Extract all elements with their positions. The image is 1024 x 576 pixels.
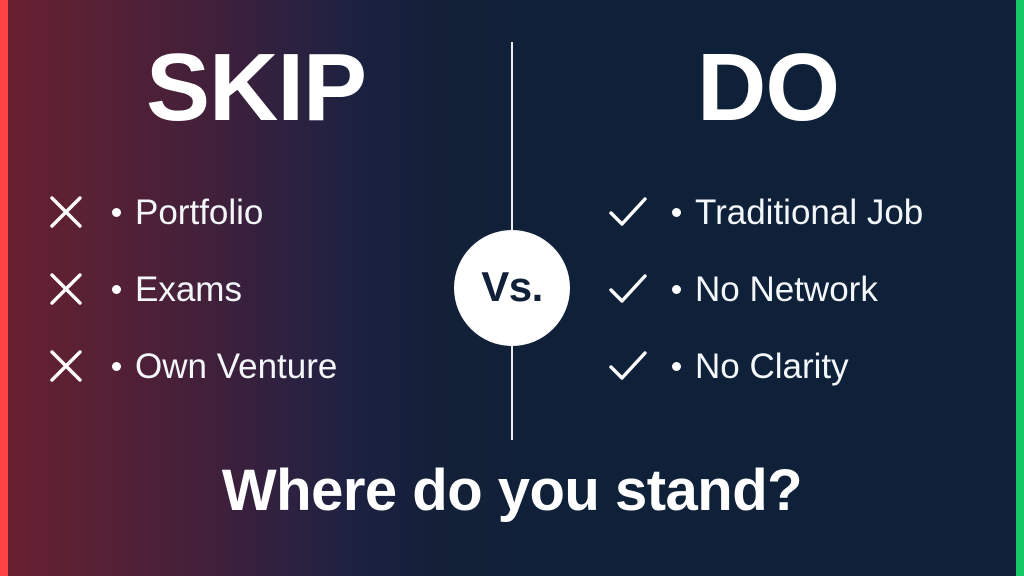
list-item-label: No Network xyxy=(695,272,878,307)
list-item: No Network xyxy=(608,263,1008,315)
skip-list: Portfolio Exams Own Venture xyxy=(48,186,468,417)
list-item: Exams xyxy=(48,263,468,315)
do-list: Traditional Job No Network No Clarity xyxy=(608,186,1008,417)
cross-icon xyxy=(48,194,88,230)
bullet-dot xyxy=(672,362,681,371)
cross-icon xyxy=(48,271,88,307)
comparison-poster: SKIP DO Vs. Portfolio Exams xyxy=(0,0,1024,576)
cross-icon xyxy=(48,348,88,384)
list-item-label: Portfolio xyxy=(135,195,263,230)
vs-badge-label: Vs. xyxy=(481,266,543,308)
check-icon xyxy=(608,194,648,230)
list-item-label: No Clarity xyxy=(695,349,849,384)
list-item-label: Exams xyxy=(135,272,242,307)
right-column-heading: DO xyxy=(512,40,1024,136)
bullet-dot xyxy=(112,285,121,294)
bullet-dot xyxy=(112,362,121,371)
vs-badge: Vs. xyxy=(454,230,570,346)
bullet-dot xyxy=(672,208,681,217)
bullet-dot xyxy=(112,208,121,217)
list-item-label: Own Venture xyxy=(135,349,337,384)
list-item: Own Venture xyxy=(48,340,468,392)
list-item: Portfolio xyxy=(48,186,468,238)
left-column-heading: SKIP xyxy=(0,40,512,136)
list-item-label: Traditional Job xyxy=(695,195,923,230)
list-item: No Clarity xyxy=(608,340,1008,392)
check-icon xyxy=(608,348,648,384)
bullet-dot xyxy=(672,285,681,294)
footer-question: Where do you stand? xyxy=(0,462,1024,520)
check-icon xyxy=(608,271,648,307)
list-item: Traditional Job xyxy=(608,186,1008,238)
